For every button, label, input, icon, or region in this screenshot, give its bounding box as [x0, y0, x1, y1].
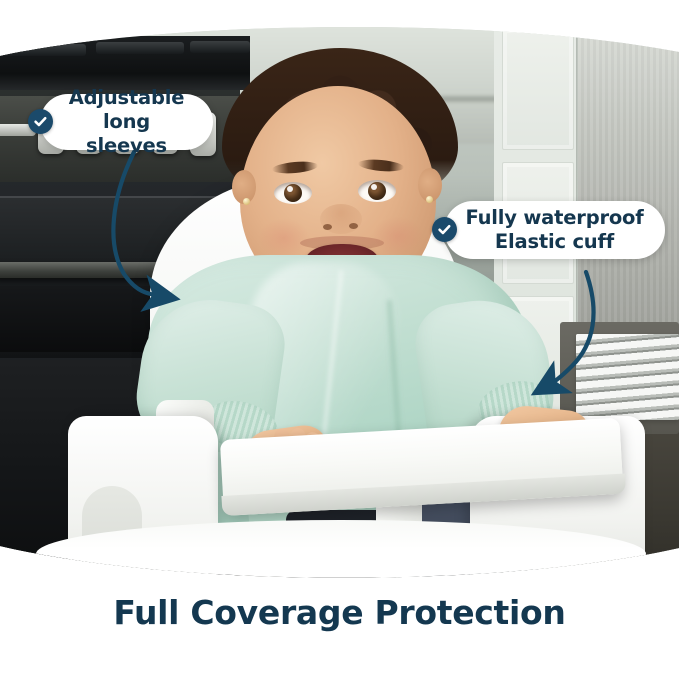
check-circle-icon [432, 217, 457, 242]
burner-grate [96, 42, 184, 54]
callout-label: Adjustable long sleeves [60, 86, 193, 158]
earring [426, 196, 433, 203]
product-feature-graphic: Adjustable long sleeves Fully waterproof… [0, 0, 679, 679]
callout-fully-waterproof-elastic-cuff[interactable]: Fully waterproof Elastic cuff [444, 201, 665, 259]
burner-grate [190, 41, 250, 53]
louvered-vent-icon [576, 334, 679, 420]
cheek-blush [372, 216, 424, 256]
cheek-blush [258, 218, 310, 258]
page-title: Full Coverage Protection [0, 592, 679, 634]
callout-label: Fully waterproof Elastic cuff [465, 206, 643, 254]
high-chair-front-base [36, 520, 646, 585]
eye-highlight [371, 184, 377, 190]
earring [243, 198, 250, 205]
eye-left [274, 182, 312, 204]
burner-grate [2, 44, 86, 56]
check-circle-icon [28, 109, 53, 134]
callout-adjustable-long-sleeves[interactable]: Adjustable long sleeves [40, 94, 213, 150]
nostril [349, 223, 358, 229]
eye-right [358, 180, 396, 202]
eye-highlight [287, 186, 293, 192]
cabinet-panel [502, 28, 574, 150]
nostril [323, 224, 332, 230]
